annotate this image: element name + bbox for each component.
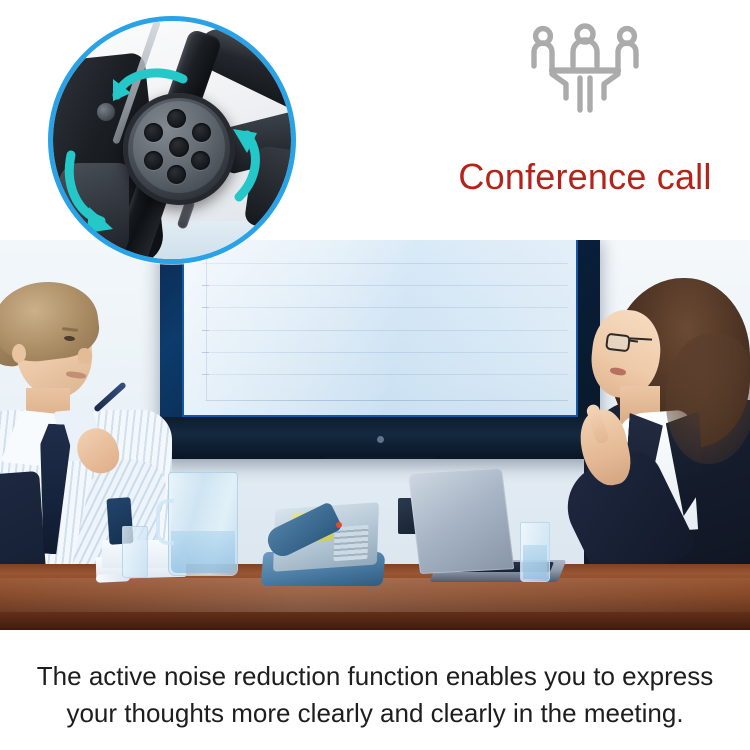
- chart-bars: [216, 250, 564, 400]
- microphone-closeup-inset: [48, 16, 296, 264]
- page-title: Conference call: [458, 156, 711, 198]
- water-glass-right: [520, 522, 550, 582]
- conference-people-icon: [521, 22, 649, 130]
- conference-room-photo: [0, 240, 750, 630]
- product-feature-page: Conference call: [0, 0, 750, 750]
- rotation-arrow-right-icon: [217, 127, 265, 207]
- mic-hole: [169, 137, 189, 157]
- mic-hole: [167, 109, 186, 128]
- person-right-woman: [566, 274, 750, 614]
- presentation-screen: [160, 240, 600, 459]
- mic-hole: [144, 151, 163, 170]
- screen-content: [182, 240, 578, 417]
- bar-chart: [202, 250, 568, 409]
- mic-hole: [191, 151, 210, 170]
- chart-x-axis: [206, 400, 568, 401]
- mic-hole: [144, 123, 163, 142]
- desk-phone: [262, 494, 384, 586]
- mic-hole: [192, 123, 211, 142]
- screen-stand: [325, 457, 435, 459]
- eyeglasses: [605, 333, 631, 353]
- rotation-arrow-top-icon: [109, 61, 195, 107]
- laptop-lid: [408, 468, 515, 574]
- mic-hole: [167, 165, 186, 184]
- chart-y-axis: [206, 250, 207, 401]
- rotation-arrow-left-icon: [61, 149, 123, 235]
- water-pitcher: [168, 472, 238, 576]
- phone-keypad: [333, 525, 368, 562]
- screen-power-led: [377, 436, 384, 443]
- caption-line-2: your thoughts more clearly and clearly i…: [66, 695, 683, 732]
- headline-block: Conference call: [430, 22, 740, 212]
- microphone-grille: [133, 101, 225, 193]
- water-glass-left: [122, 526, 148, 578]
- pen: [93, 381, 127, 412]
- caption-block: The active noise reduction function enab…: [0, 640, 750, 750]
- caption-line-1: The active noise reduction function enab…: [37, 658, 713, 695]
